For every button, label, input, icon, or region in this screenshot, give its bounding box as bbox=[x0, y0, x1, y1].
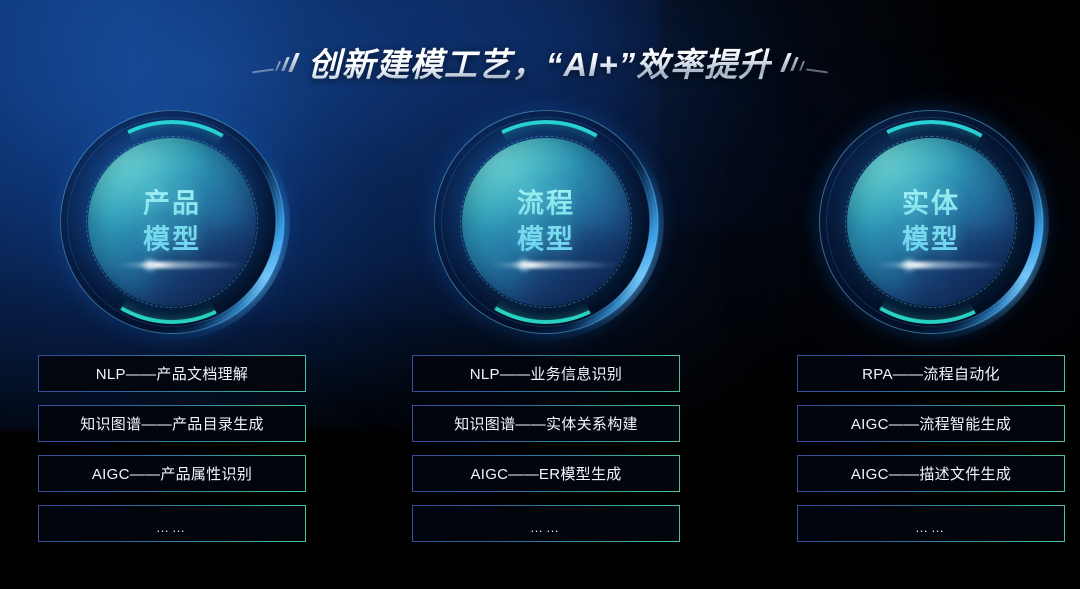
list-item[interactable]: NLP——业务信息识别 bbox=[412, 355, 680, 392]
list-item[interactable]: AIGC——流程智能生成 bbox=[797, 405, 1065, 442]
list-item-label: RPA——流程自动化 bbox=[862, 363, 1000, 384]
slide-canvas: 创新建模工艺，“AI+”效率提升 产品 模型 bbox=[0, 0, 1080, 589]
column-process-model: 流程 模型 NLP——业务信息识别 知识图谱——实体关系构建 AIGC——ER模… bbox=[412, 0, 680, 589]
list-item-label: 知识图谱——实体关系构建 bbox=[454, 413, 638, 434]
list-item-label: …… bbox=[530, 520, 562, 535]
lens-flare-dot-icon bbox=[901, 257, 917, 273]
list-item[interactable]: AIGC——ER模型生成 bbox=[412, 455, 680, 492]
list-item-label: 知识图谱——产品目录生成 bbox=[80, 413, 264, 434]
list-item[interactable]: NLP——产品文档理解 bbox=[38, 355, 306, 392]
lens-flare-dot-icon bbox=[516, 257, 532, 273]
list-item-label: NLP——业务信息识别 bbox=[470, 363, 622, 384]
column-product-model: 产品 模型 NLP——产品文档理解 知识图谱——产品目录生成 AIGC——产品属… bbox=[38, 0, 306, 589]
column-entity-model: 实体 模型 RPA——流程自动化 AIGC——流程智能生成 AIGC——描述文件… bbox=[797, 0, 1065, 589]
list-item-label: …… bbox=[156, 520, 188, 535]
badge-label-line1: 实体 bbox=[819, 186, 1043, 222]
list-item[interactable]: …… bbox=[797, 505, 1065, 542]
item-list-product-model: NLP——产品文档理解 知识图谱——产品目录生成 AIGC——产品属性识别 …… bbox=[38, 355, 306, 555]
badge-label-line1: 流程 bbox=[434, 186, 658, 222]
badge-label-process-model: 流程 模型 bbox=[434, 186, 658, 259]
list-item-label: AIGC——流程智能生成 bbox=[851, 413, 1011, 434]
list-item-label: AIGC——产品属性识别 bbox=[92, 463, 252, 484]
list-item-label: AIGC——ER模型生成 bbox=[470, 463, 621, 484]
badge-label-product-model: 产品 模型 bbox=[60, 186, 284, 259]
badge-entity-model[interactable]: 实体 模型 bbox=[819, 110, 1043, 334]
list-item-label: AIGC——描述文件生成 bbox=[851, 463, 1011, 484]
list-item[interactable]: 知识图谱——产品目录生成 bbox=[38, 405, 306, 442]
model-columns: 产品 模型 NLP——产品文档理解 知识图谱——产品目录生成 AIGC——产品属… bbox=[0, 0, 1080, 589]
badge-label-line2: 模型 bbox=[434, 222, 658, 258]
badge-label-line2: 模型 bbox=[60, 222, 284, 258]
list-item[interactable]: 知识图谱——实体关系构建 bbox=[412, 405, 680, 442]
list-item-label: NLP——产品文档理解 bbox=[96, 363, 248, 384]
badge-process-model[interactable]: 流程 模型 bbox=[434, 110, 658, 334]
list-item-label: …… bbox=[915, 520, 947, 535]
list-item[interactable]: …… bbox=[38, 505, 306, 542]
list-item[interactable]: AIGC——产品属性识别 bbox=[38, 455, 306, 492]
badge-label-line1: 产品 bbox=[60, 186, 284, 222]
list-item[interactable]: …… bbox=[412, 505, 680, 542]
badge-label-entity-model: 实体 模型 bbox=[819, 186, 1043, 259]
badge-product-model[interactable]: 产品 模型 bbox=[60, 110, 284, 334]
list-item[interactable]: RPA——流程自动化 bbox=[797, 355, 1065, 392]
lens-flare-dot-icon bbox=[142, 257, 158, 273]
badge-label-line2: 模型 bbox=[819, 222, 1043, 258]
item-list-process-model: NLP——业务信息识别 知识图谱——实体关系构建 AIGC——ER模型生成 …… bbox=[412, 355, 680, 555]
item-list-entity-model: RPA——流程自动化 AIGC——流程智能生成 AIGC——描述文件生成 …… bbox=[797, 355, 1065, 555]
list-item[interactable]: AIGC——描述文件生成 bbox=[797, 455, 1065, 492]
